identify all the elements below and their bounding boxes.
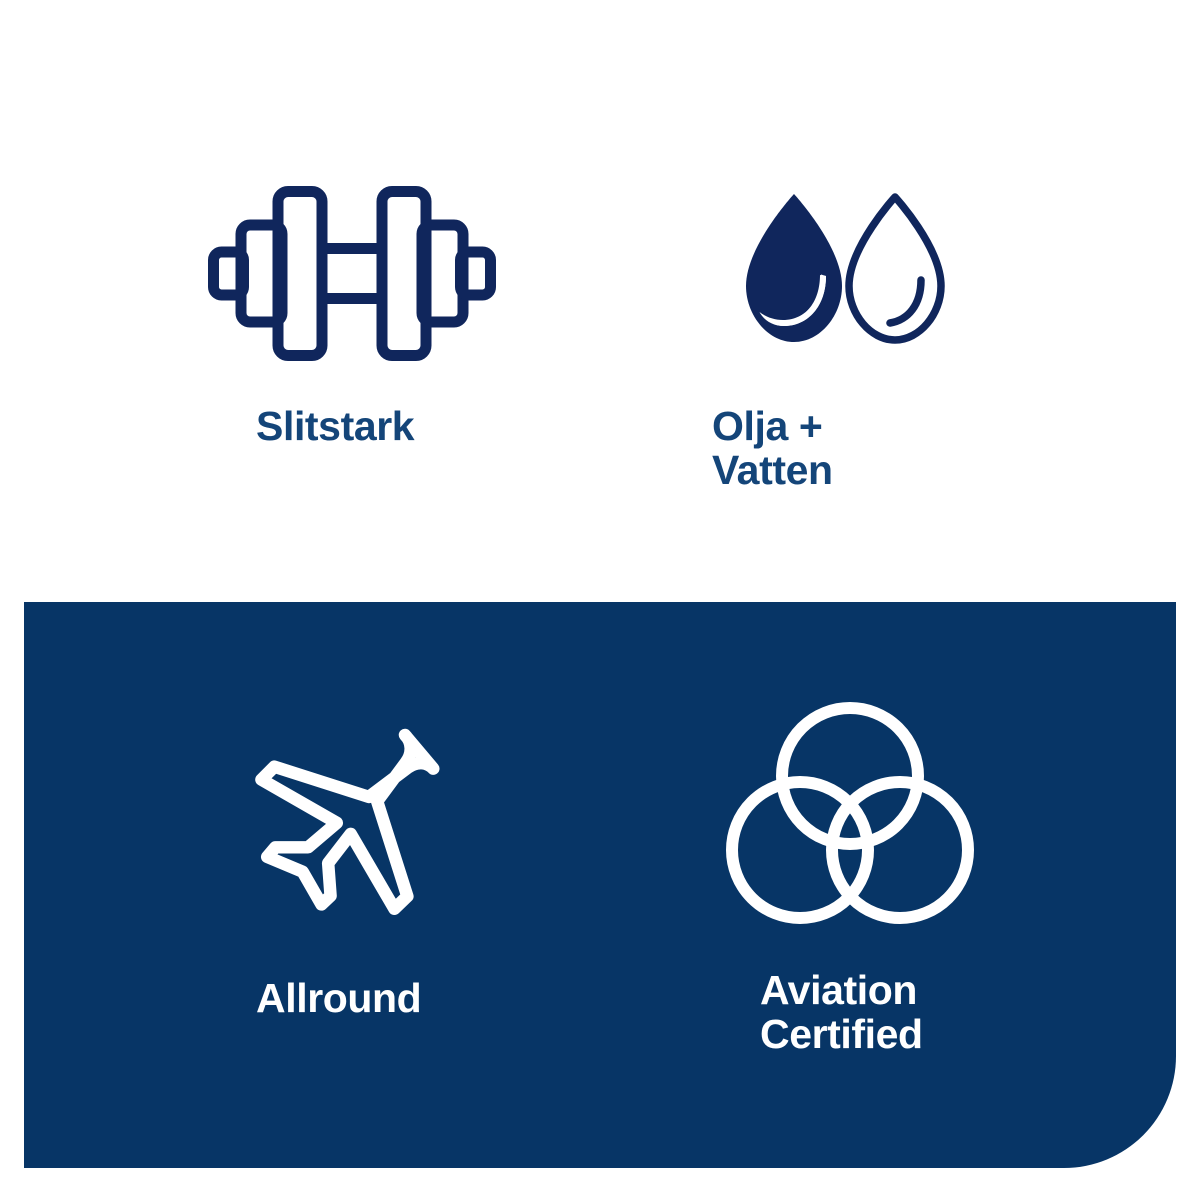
navy-panel (24, 602, 1176, 1168)
airplane-icon (256, 726, 442, 932)
droplet-filled (746, 194, 842, 342)
light-section: Slitstark (0, 0, 1200, 602)
feature-label-aviation-certified: Aviation Certified (760, 968, 923, 1057)
feature-icons-page: Slitstark (0, 0, 1200, 1200)
feature-label-allround: Allround (256, 976, 421, 1020)
venn-three-circles-icon (726, 702, 974, 924)
feature-label-durable: Slitstark (256, 404, 414, 448)
droplet-outline (849, 197, 941, 340)
oil-water-droplets-icon (738, 190, 950, 348)
dumbbell-icon (208, 186, 496, 361)
feature-label-oil-water: Olja + Vatten (712, 404, 833, 493)
